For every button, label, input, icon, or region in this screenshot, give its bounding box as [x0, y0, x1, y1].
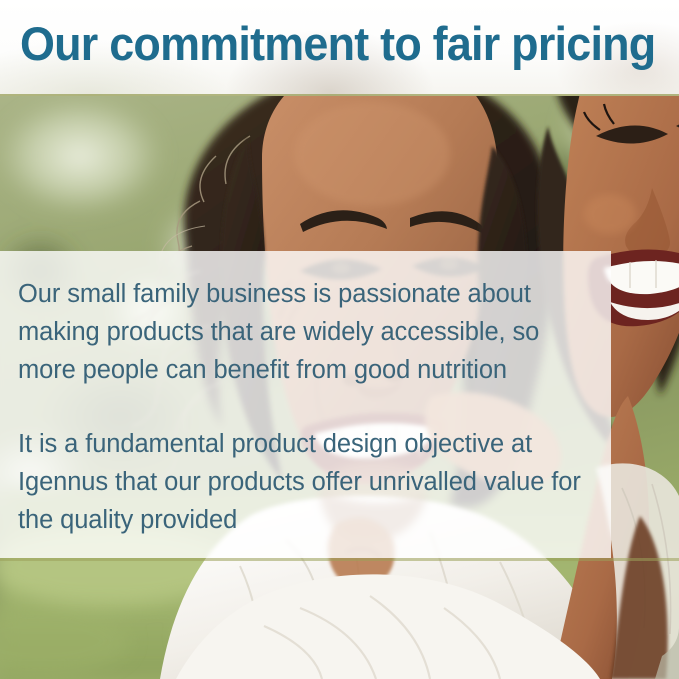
message-paragraph-2: It is a fundamental product design objec… — [18, 425, 593, 539]
message-paragraph-1: Our small family business is passionate … — [18, 275, 593, 389]
message-panel: Our small family business is passionate … — [0, 251, 611, 558]
fair-pricing-banner: Our commitment to fair pricing — [0, 0, 679, 679]
page-title: Our commitment to fair pricing — [20, 14, 641, 74]
panel-bottom-divider — [0, 558, 679, 561]
message-panel-content: Our small family business is passionate … — [18, 275, 593, 539]
banner-header: Our commitment to fair pricing — [0, 0, 679, 96]
